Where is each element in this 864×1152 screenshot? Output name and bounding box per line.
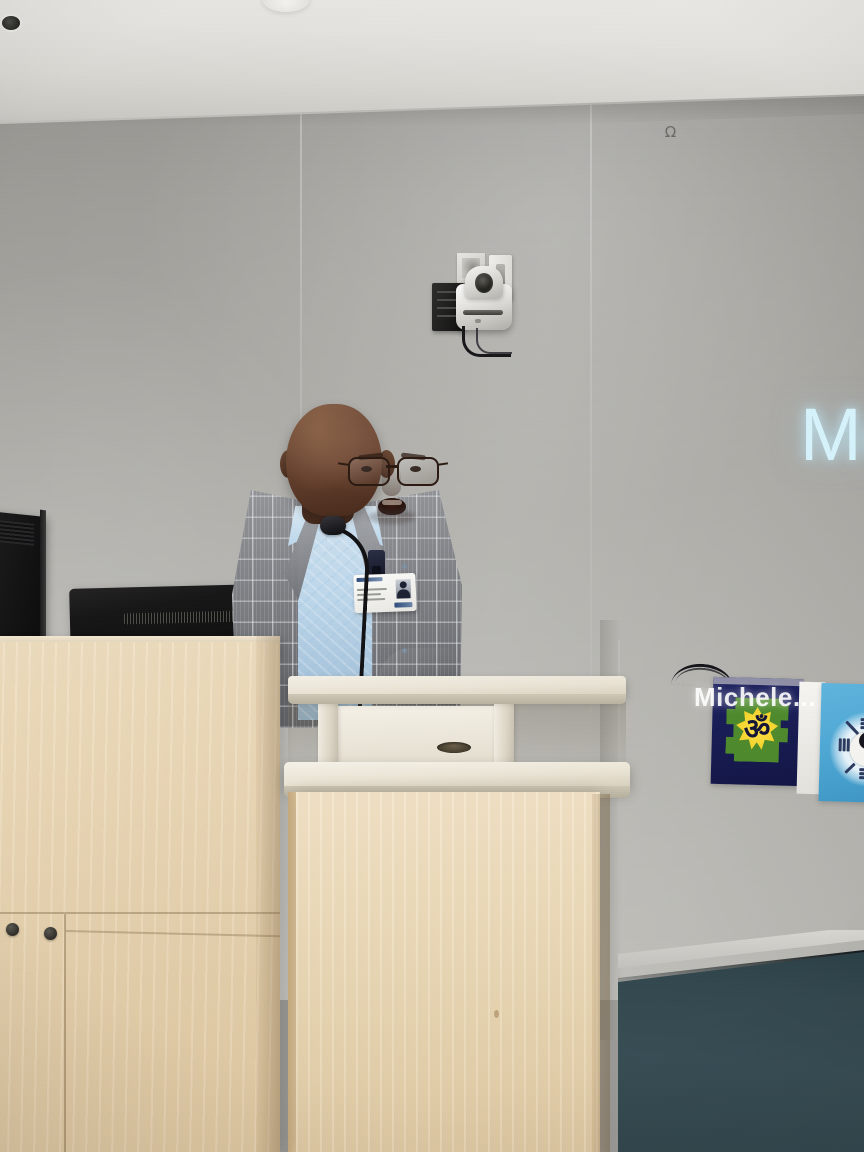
photo-scene: Me Ω ॐ	[0, 0, 864, 1152]
wall-panel-seam	[590, 55, 592, 715]
podium-support-post	[494, 702, 514, 768]
wall-glyph-mark: Ω	[663, 124, 678, 141]
recessed-ceiling-light	[262, 0, 310, 12]
eyeglass-temple-right	[438, 462, 448, 466]
badge-lanyard-clip	[368, 550, 385, 577]
chin-shadow	[368, 510, 416, 524]
wood-knot-mark	[494, 1010, 499, 1018]
wall-mounted-ptz-camera	[432, 248, 524, 352]
secondary-monitor-edge	[40, 510, 46, 656]
camera-lens-icon	[475, 273, 493, 293]
camera-led-icon	[475, 319, 481, 323]
prayer-flag-bagua	[818, 683, 864, 803]
badge-photo-icon	[396, 579, 412, 599]
camera-head	[465, 266, 503, 298]
podium-support-post	[318, 702, 338, 768]
nose	[382, 470, 401, 496]
counter-right-edge	[256, 636, 280, 1152]
eyeglass-lens-right	[397, 457, 439, 486]
podium-back-panel	[338, 706, 494, 768]
microphone-head-icon	[320, 516, 346, 535]
carpet-floor	[600, 952, 864, 1152]
podium-upper-shelf-edge	[288, 694, 626, 704]
om-icon: ॐ	[741, 714, 774, 747]
camera-slot	[463, 310, 503, 315]
podium-front-panel	[296, 792, 600, 1152]
podium-right-side-panel	[592, 794, 610, 1152]
cabinet-knob[interactable]	[44, 927, 57, 940]
back-counter-cabinet	[0, 642, 280, 1152]
monitor-vent	[0, 520, 34, 546]
projected-banner-text: Michele...	[694, 682, 816, 713]
head	[286, 404, 382, 516]
eyeglass-temple-left	[338, 462, 348, 466]
camera-cable-secondary	[476, 328, 512, 354]
eyeglass-bridge	[386, 465, 398, 468]
badge-logo-icon	[394, 602, 412, 608]
counter-horizontal-seam	[0, 912, 280, 914]
cable-grommet-hole	[437, 742, 471, 753]
ceiling-sensor-icon	[2, 16, 20, 30]
projected-slide-headline: Me	[800, 392, 864, 477]
cabinet-door-gap	[64, 914, 66, 1152]
cabinet-knob[interactable]	[6, 923, 19, 936]
